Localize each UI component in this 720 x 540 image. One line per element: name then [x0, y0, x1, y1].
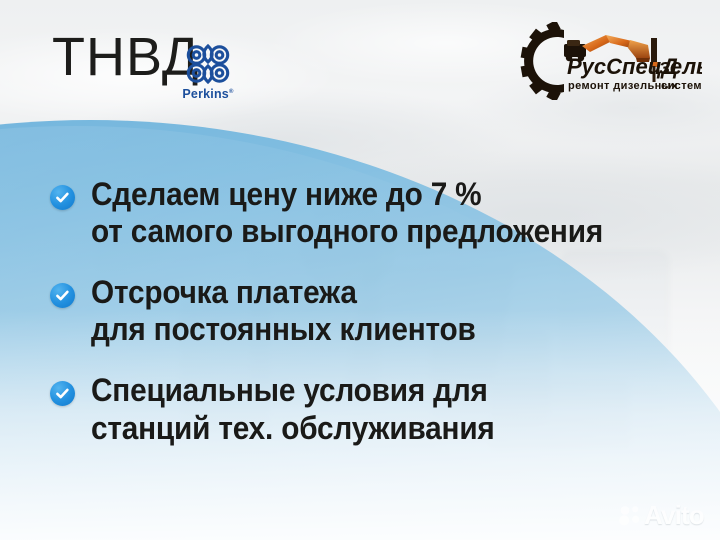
- offer-text: Сделаем цену ниже до 7 % от самого выгод…: [91, 176, 603, 250]
- check-circle-icon: [50, 283, 75, 308]
- offer-line-1: Отсрочка платежа: [91, 274, 357, 310]
- offers-list: Сделаем цену ниже до 7 % от самого выгод…: [50, 176, 650, 447]
- check-circle-icon: [50, 381, 75, 406]
- perkins-wordmark: Perkins®: [177, 87, 239, 101]
- company-logo: РусСпецД зель ремонт дизельных систем: [520, 22, 702, 100]
- offer-line-2: для постоянных клиентов: [91, 311, 476, 348]
- company-name-suffix: зель: [659, 54, 702, 79]
- perkins-name: Perkins: [182, 87, 229, 101]
- avito-watermark: Avito: [619, 502, 704, 528]
- offer-text: Отсрочка платежа для постоянных клиентов: [91, 274, 476, 348]
- check-circle-icon: [50, 185, 75, 210]
- list-item: Отсрочка платежа для постоянных клиентов: [50, 274, 650, 348]
- gear-icon: [521, 22, 564, 100]
- offer-line-2: станций тех. обслуживания: [91, 410, 495, 447]
- offer-line-2: от самого выгодного предложения: [91, 213, 603, 250]
- avito-dots-icon: [619, 504, 641, 526]
- list-item: Сделаем цену ниже до 7 % от самого выгод…: [50, 176, 650, 250]
- offer-line-1: Специальные условия для: [91, 372, 488, 408]
- perkins-brand-logo: Perkins®: [177, 42, 239, 101]
- perkins-quatrefoil-icon: [182, 42, 234, 86]
- offer-line-1: Сделаем цену ниже до 7 %: [91, 176, 481, 212]
- company-tagline-right: систем: [661, 80, 702, 92]
- offer-text: Специальные условия для станций тех. обс…: [91, 372, 495, 446]
- registered-mark: ®: [229, 89, 234, 95]
- list-item: Специальные условия для станций тех. обс…: [50, 372, 650, 446]
- header: ТНВД: [0, 0, 720, 120]
- promo-banner: ТНВД: [0, 0, 720, 540]
- avito-wordmark: Avito: [644, 502, 704, 528]
